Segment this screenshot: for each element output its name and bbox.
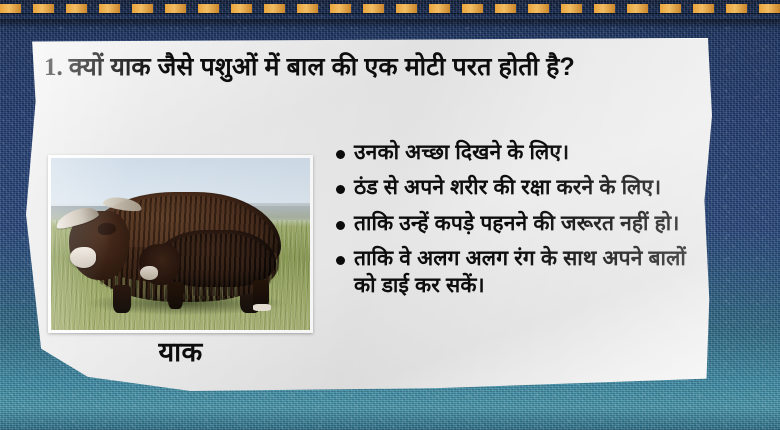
adult-yak-front-leg: [113, 285, 131, 313]
seam-drop-shadow: [0, 19, 780, 28]
answer-option-label: उनको अच्छा दिखने के लिए।: [354, 140, 569, 166]
answer-option[interactable]: ठंड से अपने शरीर की रक्षा करने के लिए।: [336, 175, 702, 201]
calf-yak-muzzle: [140, 266, 158, 280]
answer-option[interactable]: उनको अच्छा दिखने के लिए।: [336, 140, 702, 166]
answer-option-label: ताकि वे अलग अलग रंग के साथ अपने बालों को…: [354, 246, 702, 299]
answer-option[interactable]: ताकि वे अलग अलग रंग के साथ अपने बालों को…: [336, 246, 702, 299]
paper-card: 1. क्यों याक जैसे पशुओं में बाल की एक मो…: [26, 38, 712, 391]
question-text: क्यों याक जैसे पशुओं में बाल की एक मोटी …: [69, 52, 575, 84]
answer-option[interactable]: ताकि उन्हें कपड़े पहनने की जरूरत नहीं हो…: [336, 211, 702, 237]
question-block: 1. क्यों याक जैसे पशुओं में बाल की एक मो…: [44, 52, 690, 84]
answer-options-list: उनको अच्छा दिखने के लिए। ठंड से अपने शरी…: [336, 140, 702, 308]
answer-option-label: ताकि उन्हें कपड़े पहनने की जरूरत नहीं हो…: [354, 211, 679, 237]
paper-card-inner: 1. क्यों याक जैसे पशुओं में बाल की एक मो…: [26, 38, 712, 391]
slide-stage: 1. क्यों याक जैसे पशुओं में बाल की एक मो…: [0, 0, 780, 430]
yak-photo: [51, 158, 310, 330]
adult-yak-muzzle: [70, 247, 96, 268]
image-caption: याक: [48, 332, 313, 369]
question-number: 1.: [44, 52, 63, 84]
bullet-dot-icon: [336, 185, 345, 194]
bullet-dot-icon: [336, 150, 345, 159]
yak-photo-frame: [48, 155, 313, 333]
bullet-dot-icon: [336, 221, 345, 230]
calf-yak-hoof: [253, 304, 271, 311]
calf-yak-front-leg: [168, 282, 184, 310]
bullet-dot-icon: [336, 256, 345, 265]
answer-option-label: ठंड से अपने शरीर की रक्षा करने के लिए।: [354, 175, 661, 201]
stitching-line-icon: [0, 4, 780, 13]
